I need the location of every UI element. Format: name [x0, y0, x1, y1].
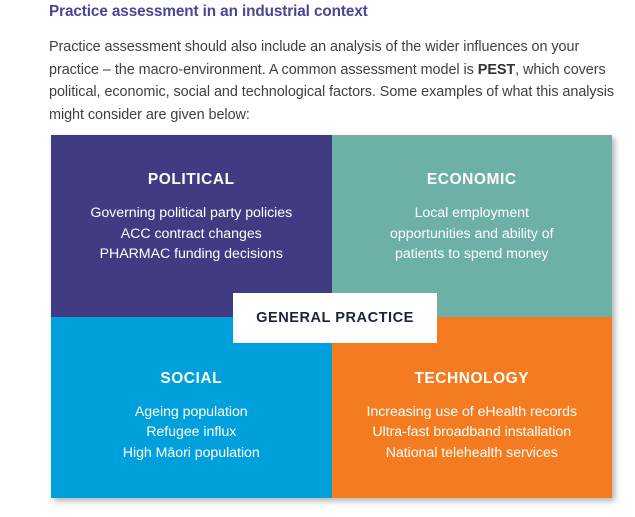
pest-acronym: PEST — [478, 62, 515, 78]
list-item: National telehealth services — [367, 443, 578, 464]
list-item: Increasing use of eHealth records — [367, 402, 578, 423]
quadrant-social: SOCIAL Ageing population Refugee influx … — [51, 317, 332, 499]
center-label-box: GENERAL PRACTICE — [233, 293, 437, 343]
list-item: Ageing population — [123, 402, 260, 423]
center-label-text: GENERAL PRACTICE — [256, 310, 414, 326]
quadrant-economic: ECONOMIC Local employment opportunities … — [332, 135, 613, 317]
page-title: Practice assessment in an industrial con… — [49, 2, 619, 22]
quadrant-technology-items: Increasing use of eHealth records Ultra-… — [367, 402, 578, 464]
page-root: Practice assessment in an industrial con… — [0, 0, 635, 517]
list-item: patients to spend money — [390, 244, 553, 265]
list-item: PHARMAC funding decisions — [90, 244, 292, 265]
list-item: Refugee influx — [123, 422, 260, 443]
quadrant-political: POLITICAL Governing political party poli… — [51, 135, 332, 317]
list-item: opportunities and ability of — [390, 224, 553, 245]
quadrant-technology-content: TECHNOLOGY Increasing use of eHealth rec… — [367, 370, 578, 464]
intro-block: Practice assessment in an industrial con… — [49, 2, 619, 126]
list-item: High Māori population — [123, 443, 260, 464]
quadrant-social-title: SOCIAL — [123, 370, 260, 388]
list-item: ACC contract changes — [90, 224, 292, 245]
quadrant-economic-content: ECONOMIC Local employment opportunities … — [390, 171, 553, 265]
quadrant-technology: TECHNOLOGY Increasing use of eHealth rec… — [332, 317, 613, 499]
quadrant-political-items: Governing political party policies ACC c… — [90, 203, 292, 265]
quadrant-political-title: POLITICAL — [90, 171, 292, 189]
list-item: Ultra-fast broadband installation — [367, 422, 578, 443]
quadrant-social-content: SOCIAL Ageing population Refugee influx … — [123, 370, 260, 464]
list-item: Governing political party policies — [90, 203, 292, 224]
quadrant-political-content: POLITICAL Governing political party poli… — [90, 171, 292, 265]
quadrant-technology-title: TECHNOLOGY — [367, 370, 578, 388]
list-item: Local employment — [390, 203, 553, 224]
quadrant-social-items: Ageing population Refugee influx High Mā… — [123, 402, 260, 464]
intro-paragraph: Practice assessment should also include … — [49, 22, 619, 126]
quadrant-economic-title: ECONOMIC — [390, 171, 553, 189]
quadrant-economic-items: Local employment opportunities and abili… — [390, 203, 553, 265]
